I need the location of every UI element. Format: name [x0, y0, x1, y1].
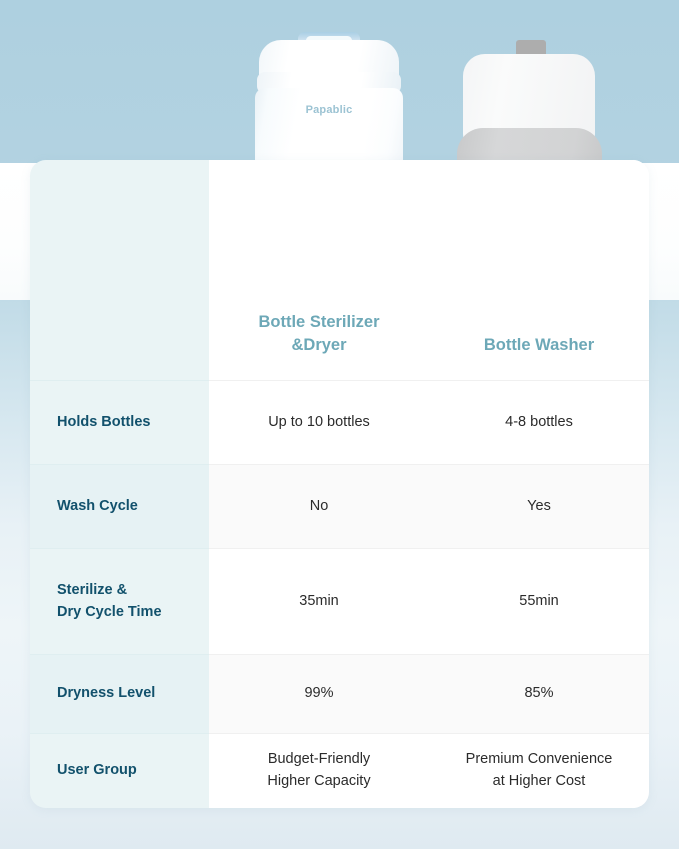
table-row-wash-cycle: No Yes: [209, 464, 649, 548]
table-row-dryness-level: 99% 85%: [209, 654, 649, 733]
feature-label-column: Holds Bottles Wash Cycle Sterilize & Dry…: [30, 160, 209, 808]
product-title-line1: Bottle Washer: [484, 336, 594, 354]
row-label-text: Dryness Level: [57, 683, 155, 704]
row-label-line2: Dry Cycle Time: [57, 604, 162, 620]
row-label-text: Wash Cycle: [57, 496, 138, 517]
table-row-holds-bottles: Up to 10 bottles 4-8 bottles: [209, 380, 649, 464]
row-label-holds-bottles: Holds Bottles: [30, 380, 209, 464]
product-title-line2: &Dryer: [291, 336, 346, 354]
row-label-sterilize-dry-cycle-time: Sterilize & Dry Cycle Time: [30, 548, 209, 654]
cell-sterilizer-wash-cycle: No: [209, 496, 429, 518]
cell-sterilizer-cycle-time: 35min: [209, 591, 429, 613]
cell-washer-holds-bottles: 4-8 bottles: [429, 412, 649, 434]
table-row-user-group: Budget-Friendly Higher Capacity Premium …: [209, 733, 649, 808]
comparison-table: Holds Bottles Wash Cycle Sterilize & Dry…: [30, 160, 649, 808]
product-title-bottle-washer: Bottle Washer: [429, 334, 649, 356]
cell-washer-dryness-level: 85%: [429, 683, 649, 705]
product-value-columns: Bottle Sterilizer &Dryer Bottle Washer U…: [209, 160, 649, 808]
row-label-dryness-level: Dryness Level: [30, 654, 209, 733]
row-label-line1: Sterilize &: [57, 582, 127, 598]
label-column-header-spacer: [30, 160, 209, 380]
cell-sterilizer-holds-bottles: Up to 10 bottles: [209, 412, 429, 434]
cell-washer-user-group: Premium Convenience at Higher Cost: [429, 749, 649, 793]
cell-washer-cycle-time: 55min: [429, 591, 649, 613]
row-label-text: Sterilize & Dry Cycle Time: [57, 580, 162, 622]
row-label-text: Holds Bottles: [57, 412, 150, 433]
table-row-sterilize-dry-cycle-time: 35min 55min: [209, 548, 649, 654]
product-header-row: Bottle Sterilizer &Dryer Bottle Washer: [209, 160, 649, 380]
row-label-wash-cycle: Wash Cycle: [30, 464, 209, 548]
cell-sterilizer-dryness-level: 99%: [209, 683, 429, 705]
cell-sterilizer-user-group: Budget-Friendly Higher Capacity: [209, 749, 429, 793]
sterilizer-brand-logo: Papablic: [249, 104, 409, 116]
cell-washer-wash-cycle: Yes: [429, 496, 649, 518]
product-title-line1: Bottle Sterilizer: [258, 313, 379, 331]
product-title-bottle-sterilizer-dryer: Bottle Sterilizer &Dryer: [209, 311, 429, 356]
row-label-text: User Group: [57, 760, 137, 781]
row-label-user-group: User Group: [30, 733, 209, 808]
comparison-table-card: Holds Bottles Wash Cycle Sterilize & Dry…: [30, 160, 649, 808]
